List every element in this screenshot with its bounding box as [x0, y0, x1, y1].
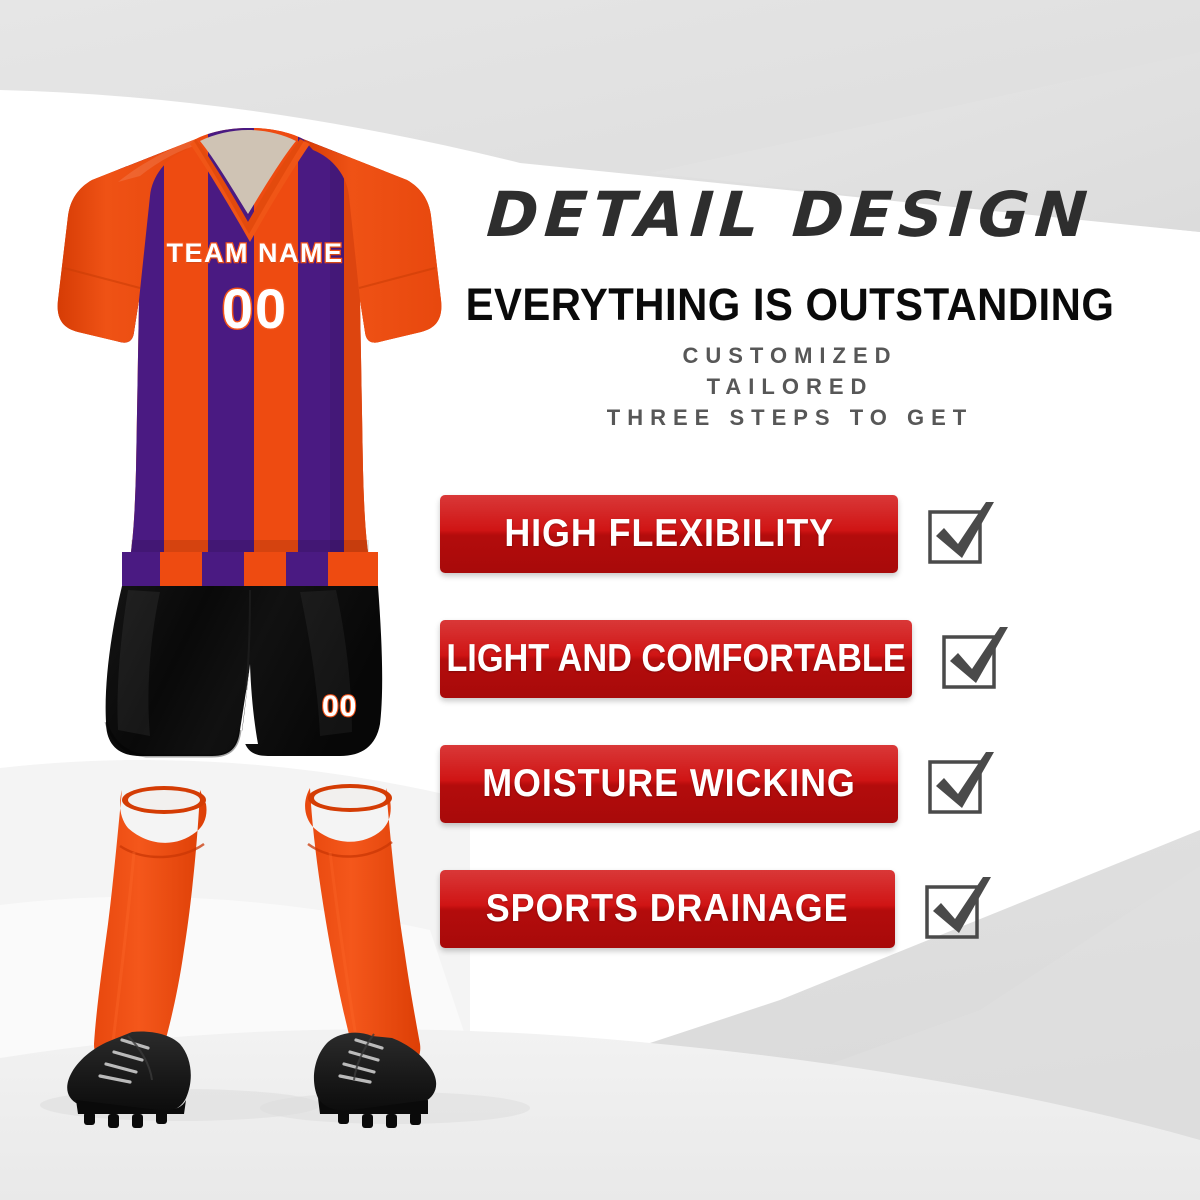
checkbox-checked-icon[interactable] — [936, 621, 1012, 697]
feature-list: HIGH FLEXIBILITY LIGHT AND COMFORTABLE — [440, 490, 1200, 990]
jersey — [58, 120, 450, 590]
feature-row: HIGH FLEXIBILITY — [440, 490, 1200, 578]
feature-label: MOISTURE WICKING — [482, 762, 856, 806]
feature-label: HIGH FLEXIBILITY — [504, 512, 834, 556]
tagline-group: CUSTOMIZED TAILORED THREE STEPS TO GET — [440, 340, 1140, 434]
checkbox-checked-icon[interactable] — [922, 496, 998, 572]
shoes — [67, 1032, 436, 1129]
socks — [94, 784, 420, 1068]
feature-row: LIGHT AND COMFORTABLE — [440, 615, 1200, 703]
checkbox-checked-icon[interactable] — [919, 871, 995, 947]
tagline-2: TAILORED — [440, 371, 1140, 402]
feature-row: MOISTURE WICKING — [440, 740, 1200, 828]
tagline-1: CUSTOMIZED — [440, 340, 1140, 371]
checkbox-checked-icon[interactable] — [922, 746, 998, 822]
marketing-copy: DETAIL DESIGN EVERYTHING IS OUTSTANDING … — [440, 0, 1200, 1200]
product-illustration: TEAM NAME 00 00 — [0, 0, 500, 1200]
feature-banner-moisture-wicking[interactable]: MOISTURE WICKING — [440, 745, 898, 823]
shorts — [106, 552, 383, 756]
page-subtitle: EVERYTHING IS OUTSTANDING — [465, 279, 1116, 331]
page-title: DETAIL DESIGN — [437, 178, 1142, 251]
feature-label: LIGHT AND COMFORTABLE — [446, 637, 905, 681]
feature-banner-light-and-comfortable[interactable]: LIGHT AND COMFORTABLE — [440, 620, 912, 698]
feature-banner-sports-drainage[interactable]: SPORTS DRAINAGE — [440, 870, 895, 948]
feature-label: SPORTS DRAINAGE — [486, 887, 849, 931]
promo-graphic: TEAM NAME 00 00 DETAIL DESIGN EVERYTHING… — [0, 0, 1200, 1200]
tagline-3: THREE STEPS TO GET — [440, 402, 1140, 433]
feature-row: SPORTS DRAINAGE — [440, 865, 1200, 953]
feature-banner-high-flexibility[interactable]: HIGH FLEXIBILITY — [440, 495, 898, 573]
